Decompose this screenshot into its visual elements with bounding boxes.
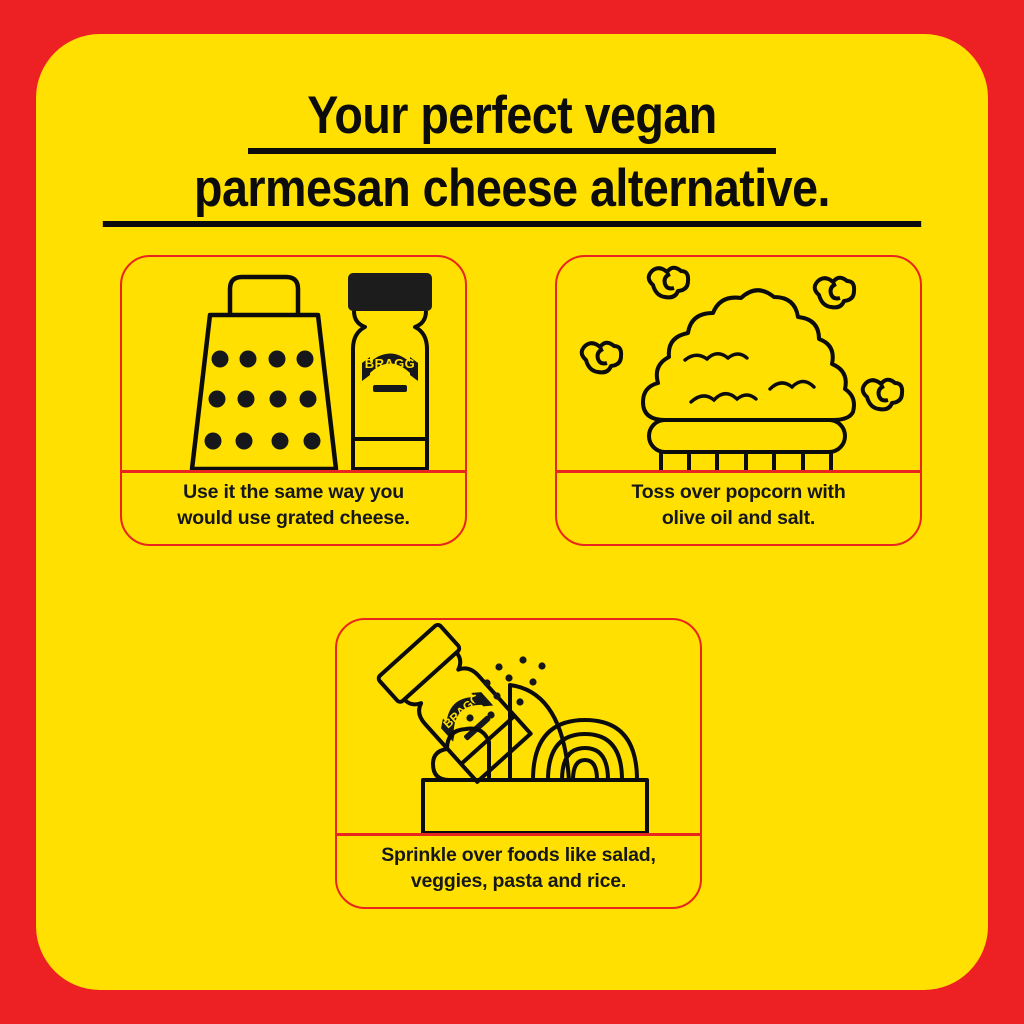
headline-underline-1 (248, 148, 776, 154)
yellow-panel: Your perfect vegan parmesan cheese alter… (36, 34, 988, 990)
page-title: Your perfect vegan parmesan cheese alter… (36, 86, 988, 232)
card-divider (557, 470, 920, 473)
grater-and-shaker-illustration: BRAGG (122, 257, 465, 470)
headline-text-1: Your perfect vegan (307, 86, 717, 145)
card-caption: Sprinkle over foods like salad, veggies,… (337, 842, 700, 894)
caption-line-1: Use it the same way you (136, 479, 451, 505)
card-caption: Toss over popcorn with olive oil and sal… (557, 479, 920, 531)
popcorn-bucket-illustration (557, 257, 920, 470)
usage-card-grater: BRAGG Use it the same way you would use … (120, 255, 467, 546)
card-divider (337, 833, 700, 836)
caption-line-2: olive oil and salt. (571, 505, 906, 531)
caption-line-1: Toss over popcorn with (571, 479, 906, 505)
card-divider (122, 470, 465, 473)
brand-wordmark: BRAGG (365, 356, 415, 371)
caption-line-2: would use grated cheese. (136, 505, 451, 531)
card-caption: Use it the same way you would use grated… (122, 479, 465, 531)
poster-root: Your perfect vegan parmesan cheese alter… (0, 0, 1024, 1024)
shaker-sprinkling-food-illustration: BRAGG (337, 620, 700, 833)
headline-line-2: parmesan cheese alternative. (93, 159, 931, 232)
headline-line-1: Your perfect vegan (93, 86, 931, 159)
headline-text-2: parmesan cheese alternative. (194, 159, 830, 218)
caption-line-2: veggies, pasta and rice. (351, 868, 686, 894)
usage-card-popcorn: Toss over popcorn with olive oil and sal… (555, 255, 922, 546)
usage-card-sprinkle: BRAGG (335, 618, 702, 909)
caption-line-1: Sprinkle over foods like salad, (351, 842, 686, 868)
headline-underline-2 (103, 221, 921, 227)
